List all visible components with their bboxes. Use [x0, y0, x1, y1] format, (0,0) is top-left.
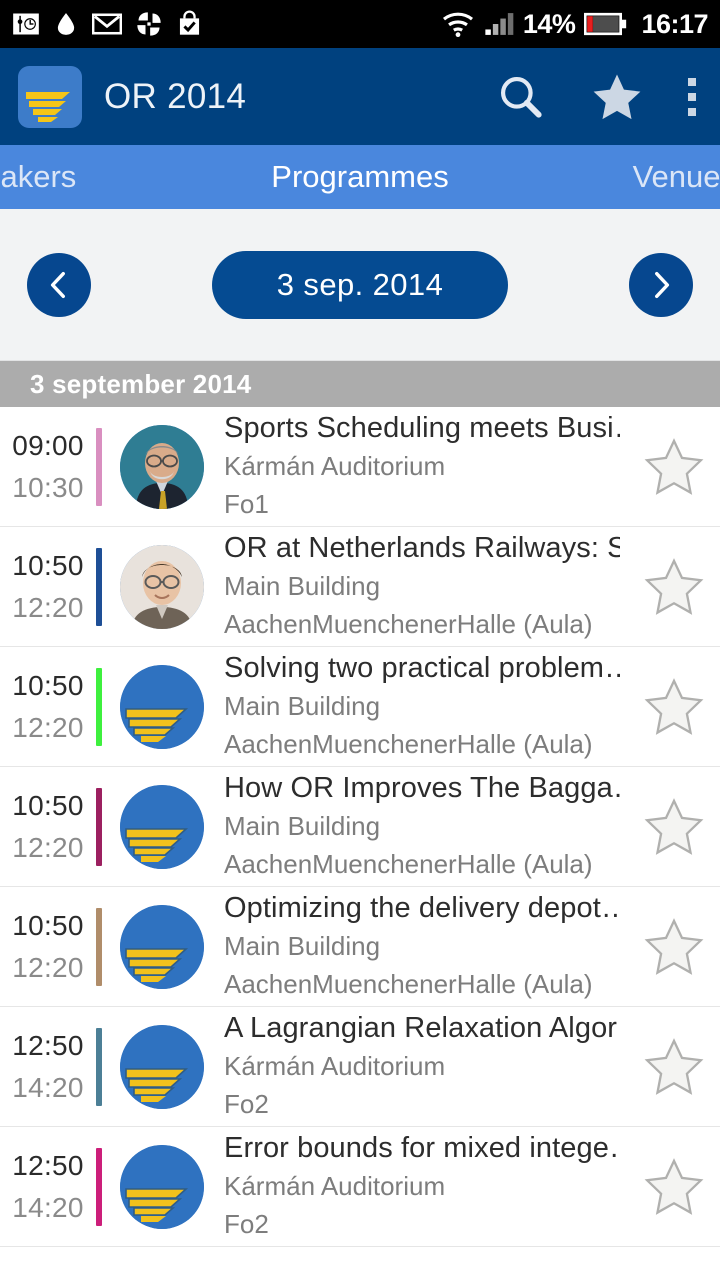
row-start-time: 10:50 [12, 910, 84, 942]
row-room: AachenMuenchenerHalle (Aula) [224, 607, 620, 642]
row-favorite-button[interactable] [628, 916, 720, 978]
row-start-time: 12:50 [12, 1150, 84, 1182]
row-room: AachenMuenchenerHalle (Aula) [224, 847, 620, 882]
section-header-label: 3 september 2014 [30, 369, 251, 400]
row-favorite-button[interactable] [628, 676, 720, 738]
section-header: 3 september 2014 [0, 361, 720, 407]
row-end-time: 14:20 [12, 1192, 84, 1224]
favorite-star-icon [642, 1156, 706, 1218]
row-venue: Main Building [224, 809, 620, 844]
favorite-star-icon [642, 436, 706, 498]
status-bar: 14% 16:17 [0, 0, 720, 48]
row-room: AachenMuenchenerHalle (Aula) [224, 967, 620, 1002]
row-time-column: 10:50 12:20 [0, 910, 96, 984]
action-bar-actions [496, 71, 702, 123]
pinwheel-photos-icon [135, 10, 163, 38]
programme-row[interactable]: 10:50 12:20 OR at Netherlands Railways: … [0, 527, 720, 647]
app-logo-avatar-glyph [120, 905, 204, 989]
row-favorite-button[interactable] [628, 796, 720, 858]
row-time-column: 09:00 10:30 [0, 430, 96, 504]
row-end-time: 14:20 [12, 1072, 84, 1104]
row-title: OR at Netherlands Railways: S… [224, 531, 620, 566]
app-logo-icon[interactable] [18, 66, 82, 128]
row-venue: Main Building [224, 569, 620, 604]
row-venue: Kármán Auditorium [224, 1049, 620, 1084]
app-logo-avatar-glyph [120, 1025, 204, 1109]
row-accent-bar [96, 668, 102, 746]
app-logo-avatar-glyph [120, 665, 204, 749]
row-start-time: 10:50 [12, 670, 84, 702]
favorite-star-icon [642, 1036, 706, 1098]
row-accent-bar [96, 1148, 102, 1226]
row-accent-bar [96, 788, 102, 866]
row-avatar[interactable] [120, 425, 204, 509]
row-end-time: 12:20 [12, 832, 84, 864]
programme-row[interactable]: 10:50 12:20 Optimizing the delivery depo… [0, 887, 720, 1007]
row-title: A Lagrangian Relaxation Algor… [224, 1011, 620, 1046]
row-text-column: OR at Netherlands Railways: S… Main Buil… [224, 531, 628, 643]
row-room: Fo2 [224, 1087, 620, 1122]
row-time-column: 12:50 14:20 [0, 1150, 96, 1224]
programme-row[interactable]: 10:50 12:20 Solving two practical proble… [0, 647, 720, 767]
app-logo-glyph [18, 66, 82, 128]
row-avatar[interactable] [120, 1025, 204, 1109]
row-end-time: 12:20 [12, 952, 84, 984]
row-favorite-button[interactable] [628, 556, 720, 618]
tab-speakers[interactable]: peakers [0, 159, 76, 195]
tab-venues[interactable]: Venues [633, 159, 720, 195]
row-title: Optimizing the delivery depot… [224, 891, 620, 926]
programme-row[interactable]: 09:00 10:30 Sports Scheduling meets Busi… [0, 407, 720, 527]
favorite-star-icon [642, 916, 706, 978]
favorite-star-icon [642, 796, 706, 858]
row-text-column: Solving two practical problem… Main Buil… [224, 651, 628, 763]
row-avatar[interactable] [120, 545, 204, 629]
battery-icon [584, 10, 628, 38]
row-accent-bar [96, 548, 102, 626]
current-date-button[interactable]: 3 sep. 2014 [212, 251, 508, 319]
row-end-time: 12:20 [12, 712, 84, 744]
row-start-time: 12:50 [12, 1030, 84, 1062]
status-bar-clock: 16:17 [641, 11, 708, 38]
row-time-column: 12:50 14:20 [0, 1030, 96, 1104]
play-store-bag-icon [176, 10, 203, 38]
row-room: Fo1 [224, 487, 620, 522]
programme-row[interactable]: 12:50 14:20 Error bounds for mixed integ… [0, 1127, 720, 1247]
alarm-clock-icon [12, 10, 40, 38]
favorites-star-icon[interactable] [590, 71, 644, 123]
row-accent-bar [96, 908, 102, 986]
water-drop-icon [53, 10, 79, 38]
tab-bar: peakers Programmes Venues [0, 145, 720, 209]
date-navigation: 3 sep. 2014 [0, 209, 720, 361]
row-text-column: How OR Improves The Bagga… Main Building… [224, 771, 628, 883]
programme-row[interactable]: 10:50 12:20 How OR Improves The Bagga… M… [0, 767, 720, 887]
action-bar: OR 2014 [0, 48, 720, 145]
app-logo-avatar-glyph [120, 1145, 204, 1229]
speaker-photo-2-glyph [120, 545, 204, 629]
row-avatar[interactable] [120, 665, 204, 749]
programme-list[interactable]: 09:00 10:30 Sports Scheduling meets Busi… [0, 407, 720, 1280]
row-time-column: 10:50 12:20 [0, 550, 96, 624]
row-room: AachenMuenchenerHalle (Aula) [224, 727, 620, 762]
row-start-time: 10:50 [12, 790, 84, 822]
search-icon[interactable] [496, 72, 546, 122]
app-logo-avatar-glyph [120, 785, 204, 869]
row-text-column: Sports Scheduling meets Busi… Kármán Aud… [224, 411, 628, 523]
wifi-icon [441, 10, 475, 38]
row-text-column: Error bounds for mixed intege… Kármán Au… [224, 1131, 628, 1243]
app-screen: 14% 16:17 OR 2014 [0, 0, 720, 1280]
tab-programmes[interactable]: Programmes [271, 159, 448, 195]
row-favorite-button[interactable] [628, 1156, 720, 1218]
row-favorite-button[interactable] [628, 436, 720, 498]
status-bar-left-icons [12, 10, 203, 38]
row-avatar[interactable] [120, 905, 204, 989]
row-title: Error bounds for mixed intege… [224, 1131, 620, 1166]
row-title: How OR Improves The Bagga… [224, 771, 620, 806]
next-day-button[interactable] [629, 253, 693, 317]
row-end-time: 10:30 [12, 472, 84, 504]
previous-day-button[interactable] [27, 253, 91, 317]
row-start-time: 10:50 [12, 550, 84, 582]
row-title: Sports Scheduling meets Busi… [224, 411, 620, 446]
cellular-signal-icon [484, 10, 514, 38]
row-accent-bar [96, 1028, 102, 1106]
row-start-time: 09:00 [12, 430, 84, 462]
row-accent-bar [96, 428, 102, 506]
speaker-photo-glyph [120, 425, 204, 509]
programme-row[interactable]: 12:50 14:20 A Lagrangian Relaxation Algo… [0, 1007, 720, 1127]
row-venue: Main Building [224, 929, 620, 964]
row-end-time: 12:20 [12, 592, 84, 624]
chevron-left-icon [42, 268, 76, 302]
row-venue: Main Building [224, 689, 620, 724]
row-avatar[interactable] [120, 785, 204, 869]
row-title: Solving two practical problem… [224, 651, 620, 686]
row-time-column: 10:50 12:20 [0, 790, 96, 864]
row-venue: Kármán Auditorium [224, 1169, 620, 1204]
overflow-menu-icon[interactable] [688, 78, 696, 116]
favorite-star-icon [642, 556, 706, 618]
row-text-column: Optimizing the delivery depot… Main Buil… [224, 891, 628, 1003]
gmail-icon [92, 10, 122, 38]
favorite-star-icon [642, 676, 706, 738]
page-title: OR 2014 [104, 77, 246, 117]
row-avatar[interactable] [120, 1145, 204, 1229]
battery-percent-label: 14% [523, 11, 576, 38]
row-room: Fo2 [224, 1207, 620, 1242]
status-bar-right-icons: 14% 16:17 [441, 10, 708, 38]
row-venue: Kármán Auditorium [224, 449, 620, 484]
row-favorite-button[interactable] [628, 1036, 720, 1098]
row-text-column: A Lagrangian Relaxation Algor… Kármán Au… [224, 1011, 628, 1123]
row-time-column: 10:50 12:20 [0, 670, 96, 744]
current-date-label: 3 sep. 2014 [277, 267, 443, 303]
chevron-right-icon [644, 268, 678, 302]
